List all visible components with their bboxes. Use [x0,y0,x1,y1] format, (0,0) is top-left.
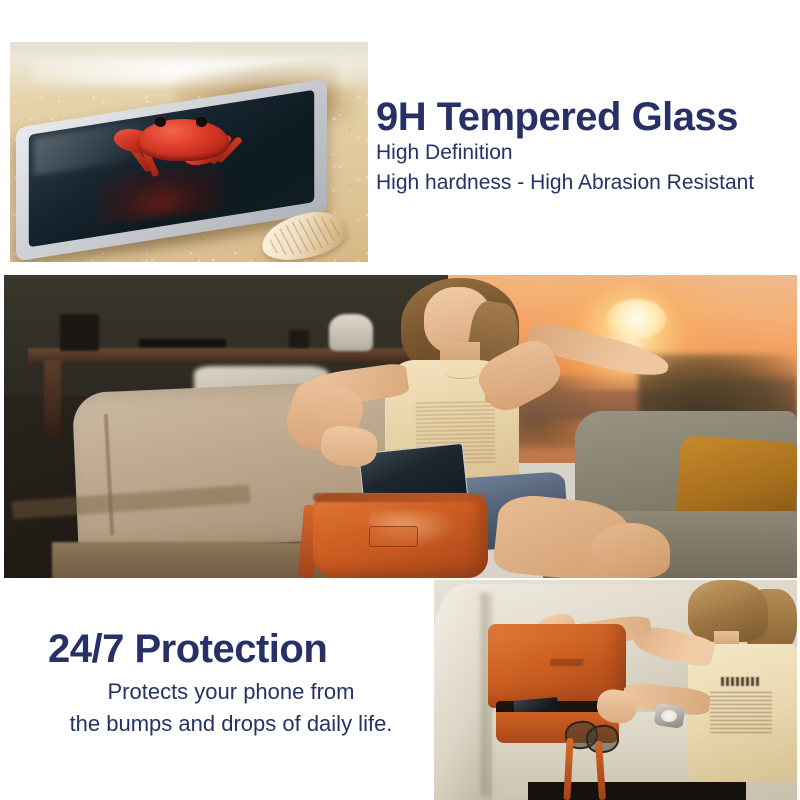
protection-subline-2: the bumps and drops of daily life. [36,708,426,740]
shelf-object-slab [139,339,226,347]
shelf-leg [44,360,61,439]
photo-tablet-into-bag [4,275,797,578]
protection-subline-1: Protects your phone from [36,676,426,708]
tempered-glass-headline: 9H Tempered Glass [376,96,796,138]
shelf-object-box [60,314,100,350]
wristwatch-face [661,710,678,722]
protection-text-block: 24/7 Protection Protects your phone from… [36,628,426,740]
tank-top-paragraph-print [710,692,772,736]
crab-illustration [110,99,275,187]
tank-top-logo-text [721,677,761,686]
woman-knee [591,523,670,578]
shelf-object-small [289,330,308,348]
tempered-glass-subline-2: High hardness - High Abrasion Resistant [376,168,796,198]
handbag-zipper [313,493,487,502]
handbag-logo-tab [369,526,419,546]
woman-necklace [444,366,480,379]
handbag-brand-mark [550,659,583,666]
tempered-glass-subline-1: High Definition [376,138,796,168]
sun-disc [607,299,666,338]
protection-headline: 24/7 Protection [36,628,426,670]
shelf-object-vase [329,314,373,350]
tempered-glass-text-block: 9H Tempered Glass High Definition High h… [376,96,796,198]
product-banner: 9H Tempered Glass High Definition High h… [0,0,800,800]
crab-shell [137,119,229,161]
photo-shocked-woman [434,580,797,800]
dark-floor [528,782,746,800]
photo-crab-on-tablet [10,42,368,262]
